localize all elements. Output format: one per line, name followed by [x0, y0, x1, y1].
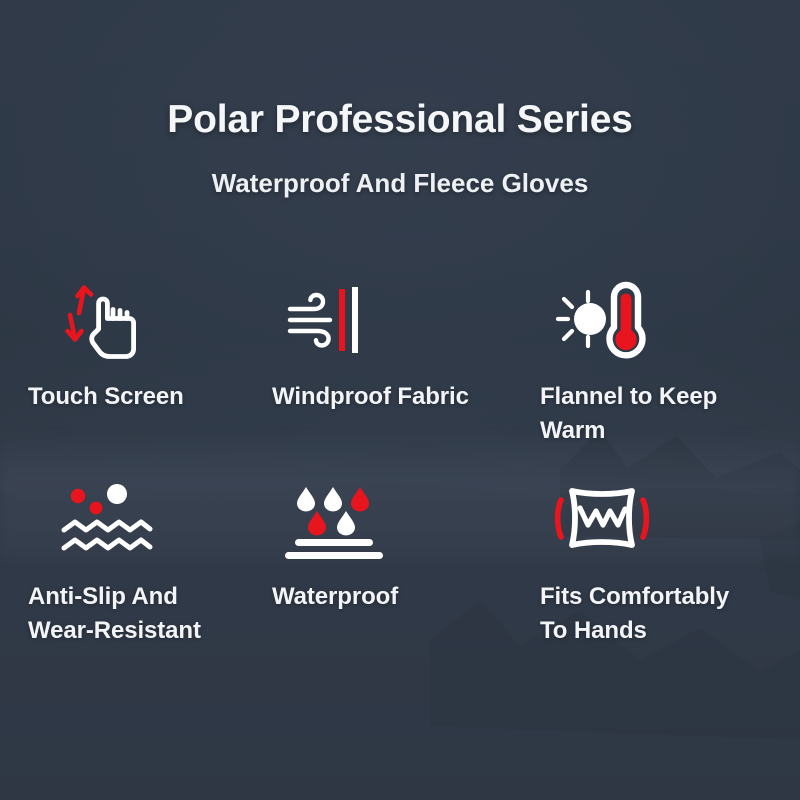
- page-subtitle: Waterproof And Fleece Gloves: [0, 142, 800, 199]
- feature-item-windproof-fabric: Windproof Fabric: [272, 274, 540, 474]
- feature-item-waterproof: Waterproof: [272, 474, 540, 674]
- header: Polar Professional Series Waterproof And…: [0, 0, 800, 199]
- droplets: [297, 487, 369, 535]
- product-feature-poster: Polar Professional Series Waterproof And…: [0, 0, 800, 800]
- feature-label: Anti-Slip And Wear-Resistant: [22, 566, 243, 648]
- feature-label: Touch Screen: [22, 366, 243, 414]
- feature-grid: Touch Screen Windproof Fabric: [0, 199, 800, 674]
- touch-screen-hand-icon: [58, 277, 150, 363]
- icon-container: [540, 274, 800, 366]
- icon-container: [272, 274, 540, 366]
- wind-barrier-icon: [284, 279, 376, 361]
- feature-item-fits-comfortably: Fits Comfortably To Hands: [540, 474, 800, 674]
- cushion-stretch-icon: [552, 481, 652, 559]
- feature-label: Windproof Fabric: [272, 366, 512, 414]
- sun-thermometer-icon: [550, 275, 650, 365]
- feature-item-anti-slip: Anti-Slip And Wear-Resistant: [22, 474, 272, 674]
- icon-container: [22, 474, 272, 566]
- feature-label: Waterproof: [272, 566, 512, 614]
- anti-slip-zigzag-icon: [60, 480, 158, 560]
- icon-container: [272, 474, 540, 566]
- icon-container: [540, 474, 800, 566]
- feature-label: Flannel to Keep Warm: [540, 366, 755, 448]
- feature-item-flannel-warm: Flannel to Keep Warm: [540, 274, 800, 474]
- icon-container: [22, 274, 272, 366]
- feature-label: Fits Comfortably To Hands: [540, 566, 755, 648]
- page-title: Polar Professional Series: [0, 98, 800, 142]
- feature-item-touch-screen: Touch Screen: [22, 274, 272, 474]
- water-droplets-surface-icon: [284, 479, 384, 561]
